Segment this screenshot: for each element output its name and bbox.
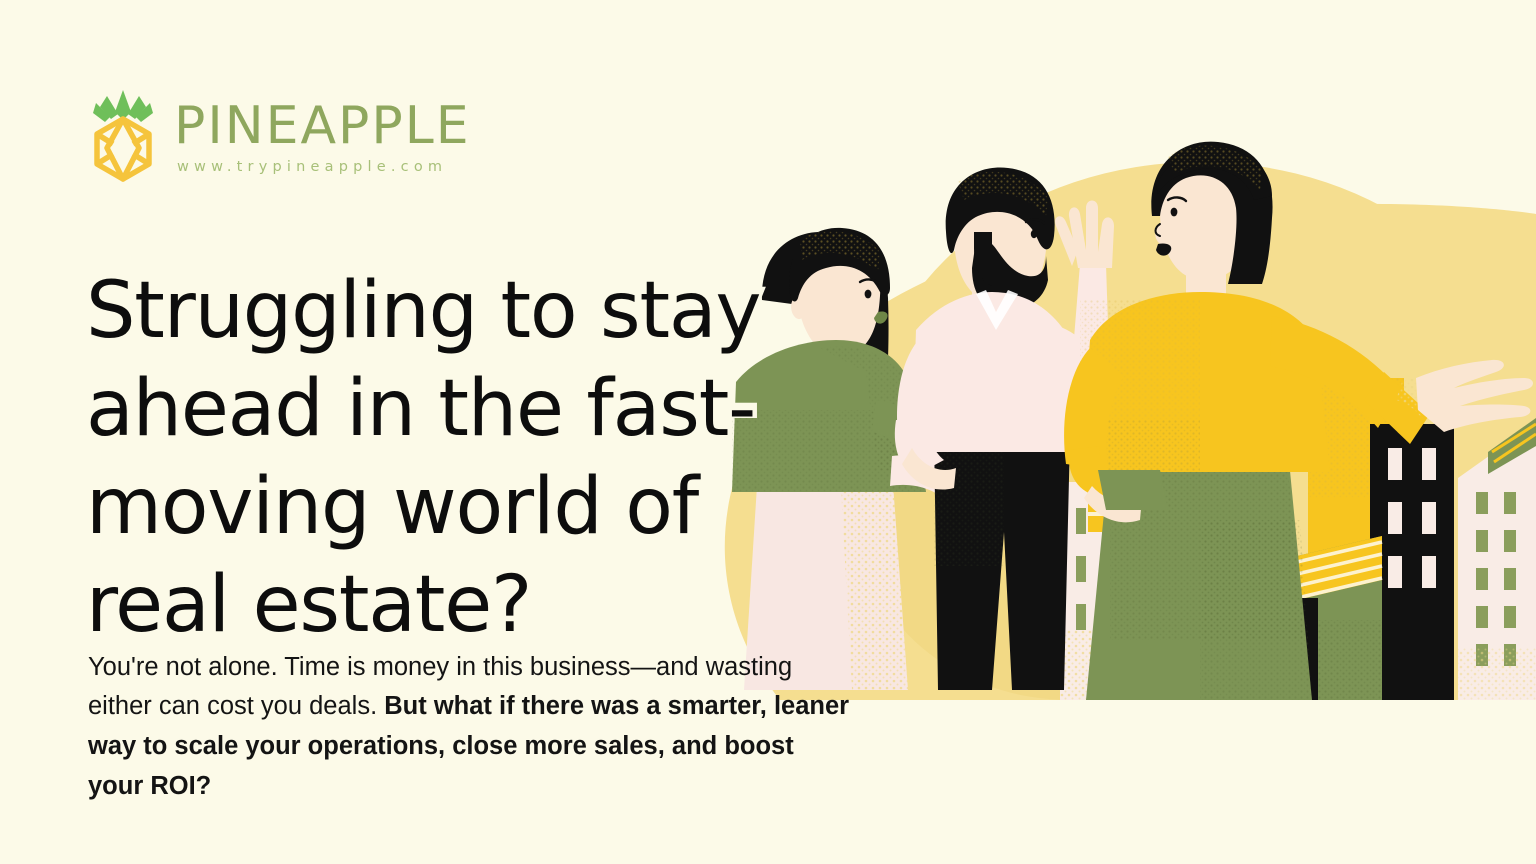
headline-line-3: moving world ofmoving world of — [86, 456, 886, 554]
headline-text-fill: Struggling to stay — [86, 263, 760, 361]
pineapple-logo-mark — [86, 86, 160, 190]
headline-line-text: Struggling to stayStruggling to stay — [86, 263, 760, 353]
building-black-tall — [1370, 424, 1454, 700]
headline-line-4: real estate?real estate? — [86, 554, 886, 652]
headline-text-fill: moving world of — [86, 459, 698, 557]
logo-url: www.trypineapple.com — [174, 159, 471, 175]
body-paragraph: You're not alone. Time is money in this … — [88, 648, 856, 807]
headline-line-text: real estate?real estate? — [86, 557, 531, 647]
logo-wordmark: PINEAPPLE — [174, 100, 471, 152]
page-title: Struggling to stayStruggling to stay ahe… — [86, 260, 886, 652]
headline-text-fill: real estate? — [86, 557, 531, 655]
headline-line-2: ahead in the fast-ahead in the fast- — [86, 358, 886, 456]
marketing-slide: PINEAPPLE www.trypineapple.com Strugglin… — [0, 0, 1536, 864]
brand-logo[interactable]: PINEAPPLE www.trypineapple.com — [86, 86, 471, 190]
headline-line-text: moving world ofmoving world of — [86, 459, 698, 549]
headline-line-text: ahead in the fast-ahead in the fast- — [86, 361, 755, 451]
headline-text-fill: ahead in the fast- — [86, 361, 755, 459]
headline-line-1: Struggling to stayStruggling to stay — [86, 260, 886, 358]
